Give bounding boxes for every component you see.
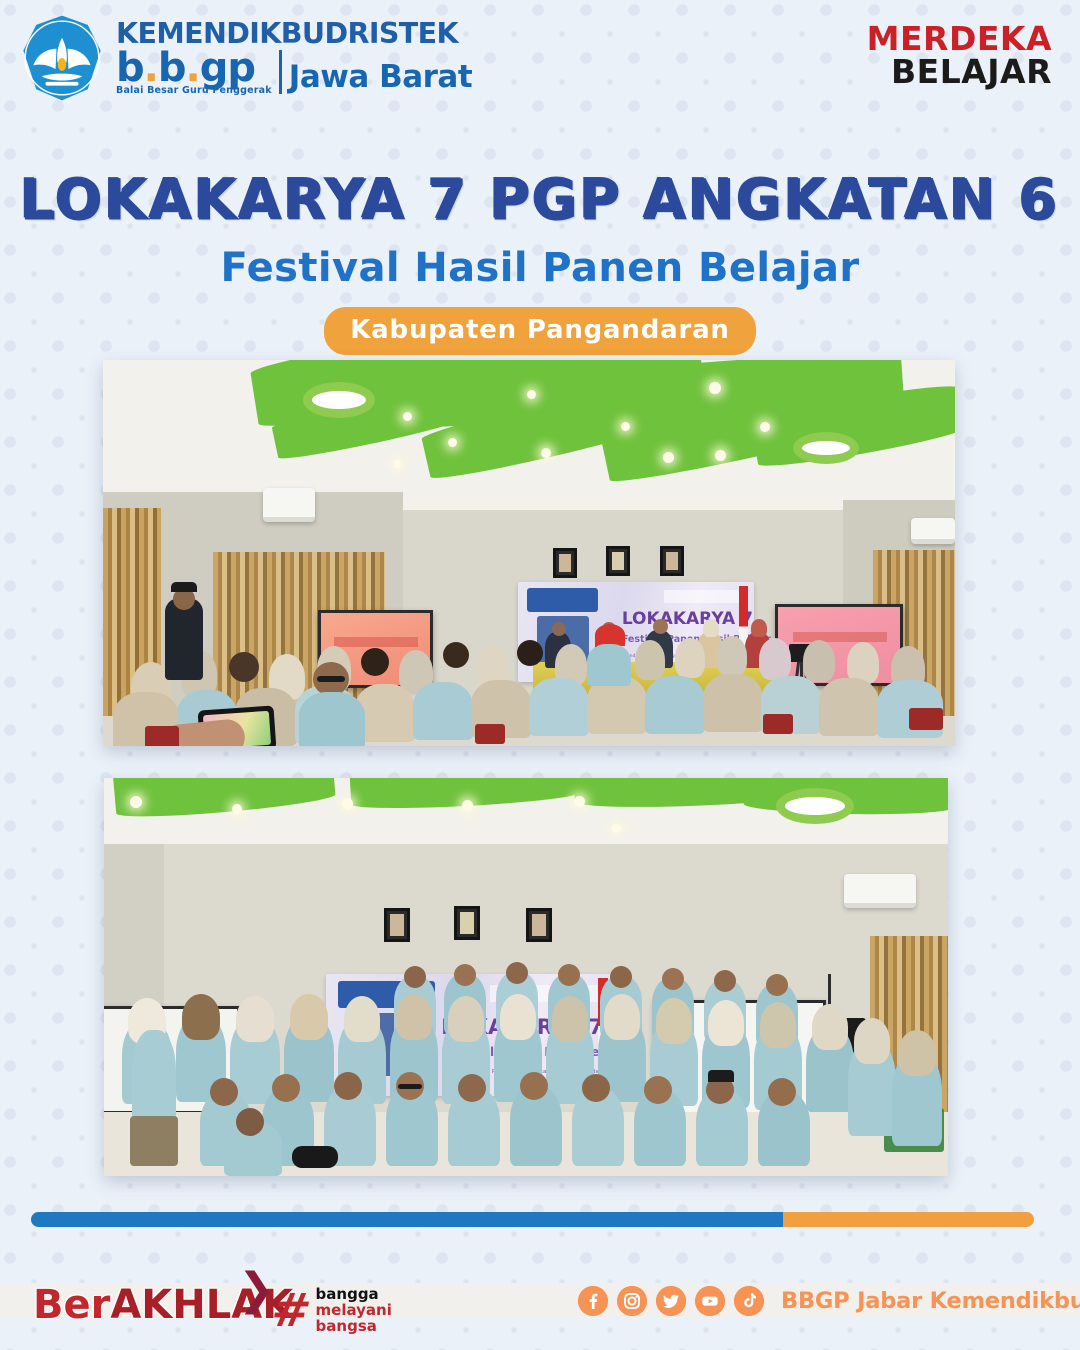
twitter-icon[interactable] xyxy=(656,1286,686,1316)
photo-group-photo: LOKAKARYA 7 Festival Panen Hasil Belajar… xyxy=(104,778,948,1176)
title-group: LOKAKARYA 7 PGP ANGKATAN 6 Festival Hasi… xyxy=(0,172,1080,355)
social-handle: BBGP Jabar Kemendikbudristek xyxy=(781,1288,1080,1314)
tagline-line-1: bangga xyxy=(316,1286,392,1302)
hash-icon: # xyxy=(269,1291,314,1331)
photo-1-scene: LOKAKARYA 7 Festival Panen Hasil Belajar… xyxy=(103,360,955,746)
tiktok-icon[interactable] xyxy=(734,1286,764,1316)
bbgp-wordmark: b.b.gp xyxy=(116,50,272,87)
social-media-bar: BBGP Jabar Kemendikbudristek xyxy=(578,1286,1080,1316)
photo-2-scene: LOKAKARYA 7 Festival Panen Hasil Belajar… xyxy=(104,778,948,1176)
belajar-text: BELAJAR xyxy=(867,55,1052,89)
photo-audience-plenary: LOKAKARYA 7 Festival Panen Hasil Belajar… xyxy=(103,360,955,746)
progress-bar-orange-segment xyxy=(783,1212,1034,1227)
page-title: LOKAKARYA 7 PGP ANGKATAN 6 xyxy=(0,172,1080,230)
brand-divider xyxy=(279,50,282,94)
merdeka-text: MERDEKA xyxy=(867,22,1052,55)
merdeka-belajar-logo: MERDEKA BELAJAR xyxy=(867,22,1052,89)
location-badge: Kabupaten Pangandaran xyxy=(324,307,756,355)
poster-canvas: KEMENDIKBUDRISTEK b.b.gp Balai Besar Gur… xyxy=(0,0,1080,1350)
bbgp-full-name: Balai Besar Guru Penggerak xyxy=(116,85,272,96)
region-name: Jawa Barat xyxy=(289,62,472,96)
page-subtitle: Festival Hasil Panen Belajar xyxy=(0,246,1080,290)
bangga-melayani-bangsa-logo: # bangga melayani bangsa xyxy=(272,1286,392,1335)
progress-bar-blue-segment xyxy=(31,1212,783,1227)
tagline-line-3: bangsa xyxy=(316,1318,392,1334)
beraklak-swoosh-icon: ❯ xyxy=(238,1272,264,1308)
brand-wordmark: KEMENDIKBUDRISTEK b.b.gp Balai Besar Gur… xyxy=(116,20,472,96)
tagline-line-2: melayani xyxy=(316,1302,392,1318)
instagram-icon[interactable] xyxy=(617,1286,647,1316)
progress-bar xyxy=(31,1212,1034,1227)
youtube-icon[interactable] xyxy=(695,1286,725,1316)
beraklak-prefix: Ber xyxy=(33,1282,110,1328)
ministry-logo-block: KEMENDIKBUDRISTEK b.b.gp Balai Besar Gur… xyxy=(16,12,472,104)
tut-wuri-handayani-icon xyxy=(16,12,108,104)
poster-header: KEMENDIKBUDRISTEK b.b.gp Balai Besar Gur… xyxy=(0,0,1080,118)
facebook-icon[interactable] xyxy=(578,1286,608,1316)
